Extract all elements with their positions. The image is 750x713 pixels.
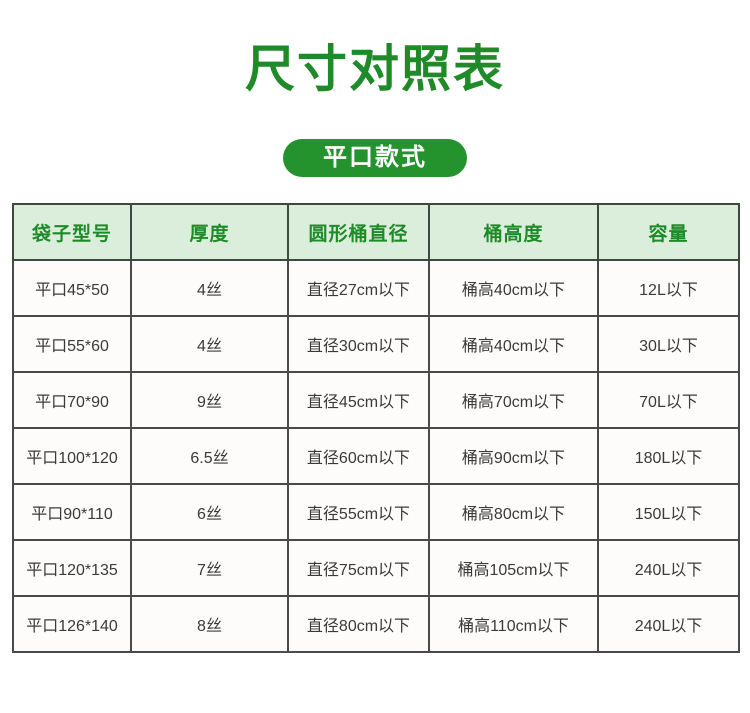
cell-height: 桶高70cm以下 — [429, 372, 598, 428]
column-header-thickness: 厚度 — [131, 204, 288, 260]
column-header-model: 袋子型号 — [13, 204, 131, 260]
cell-thickness: 6.5丝 — [131, 428, 288, 484]
badge-container: 平口款式 — [0, 139, 750, 177]
table-row: 平口100*120 6.5丝 直径60cm以下 桶高90cm以下 180L以下 — [13, 428, 739, 484]
cell-capacity: 240L以下 — [598, 596, 739, 652]
cell-thickness: 9丝 — [131, 372, 288, 428]
table-row: 平口120*135 7丝 直径75cm以下 桶高105cm以下 240L以下 — [13, 540, 739, 596]
cell-capacity: 240L以下 — [598, 540, 739, 596]
table-body: 平口45*50 4丝 直径27cm以下 桶高40cm以下 12L以下 平口55*… — [13, 260, 739, 652]
cell-thickness: 4丝 — [131, 316, 288, 372]
cell-model: 平口126*140 — [13, 596, 131, 652]
column-header-height: 桶高度 — [429, 204, 598, 260]
table-row: 平口90*110 6丝 直径55cm以下 桶高80cm以下 150L以下 — [13, 484, 739, 540]
cell-model: 平口100*120 — [13, 428, 131, 484]
cell-capacity: 30L以下 — [598, 316, 739, 372]
cell-thickness: 6丝 — [131, 484, 288, 540]
cell-capacity: 150L以下 — [598, 484, 739, 540]
page-title: 尺寸对照表 — [0, 38, 750, 100]
table-row: 平口55*60 4丝 直径30cm以下 桶高40cm以下 30L以下 — [13, 316, 739, 372]
cell-model: 平口45*50 — [13, 260, 131, 316]
cell-height: 桶高40cm以下 — [429, 316, 598, 372]
cell-capacity: 70L以下 — [598, 372, 739, 428]
cell-height: 桶高105cm以下 — [429, 540, 598, 596]
cell-diameter: 直径27cm以下 — [288, 260, 429, 316]
table-header-row: 袋子型号 厚度 圆形桶直径 桶高度 容量 — [13, 204, 739, 260]
cell-thickness: 8丝 — [131, 596, 288, 652]
size-table-container: 袋子型号 厚度 圆形桶直径 桶高度 容量 平口45*50 4丝 直径27cm以下… — [12, 203, 738, 653]
cell-height: 桶高90cm以下 — [429, 428, 598, 484]
cell-capacity: 12L以下 — [598, 260, 739, 316]
cell-diameter: 直径45cm以下 — [288, 372, 429, 428]
table-row: 平口70*90 9丝 直径45cm以下 桶高70cm以下 70L以下 — [13, 372, 739, 428]
cell-capacity: 180L以下 — [598, 428, 739, 484]
cell-height: 桶高80cm以下 — [429, 484, 598, 540]
column-header-capacity: 容量 — [598, 204, 739, 260]
cell-diameter: 直径80cm以下 — [288, 596, 429, 652]
cell-diameter: 直径75cm以下 — [288, 540, 429, 596]
cell-model: 平口55*60 — [13, 316, 131, 372]
cell-diameter: 直径30cm以下 — [288, 316, 429, 372]
table-row: 平口45*50 4丝 直径27cm以下 桶高40cm以下 12L以下 — [13, 260, 739, 316]
cell-thickness: 7丝 — [131, 540, 288, 596]
cell-model: 平口120*135 — [13, 540, 131, 596]
cell-height: 桶高40cm以下 — [429, 260, 598, 316]
column-header-diameter: 圆形桶直径 — [288, 204, 429, 260]
table-row: 平口126*140 8丝 直径80cm以下 桶高110cm以下 240L以下 — [13, 596, 739, 652]
cell-model: 平口90*110 — [13, 484, 131, 540]
size-comparison-table: 袋子型号 厚度 圆形桶直径 桶高度 容量 平口45*50 4丝 直径27cm以下… — [12, 203, 740, 653]
cell-model: 平口70*90 — [13, 372, 131, 428]
cell-thickness: 4丝 — [131, 260, 288, 316]
style-badge: 平口款式 — [283, 139, 467, 177]
cell-height: 桶高110cm以下 — [429, 596, 598, 652]
table-header: 袋子型号 厚度 圆形桶直径 桶高度 容量 — [13, 204, 739, 260]
size-chart-page: 尺寸对照表 平口款式 袋子型号 厚度 圆形桶直径 桶高度 容量 平口45*50 — [0, 0, 750, 713]
cell-diameter: 直径55cm以下 — [288, 484, 429, 540]
cell-diameter: 直径60cm以下 — [288, 428, 429, 484]
